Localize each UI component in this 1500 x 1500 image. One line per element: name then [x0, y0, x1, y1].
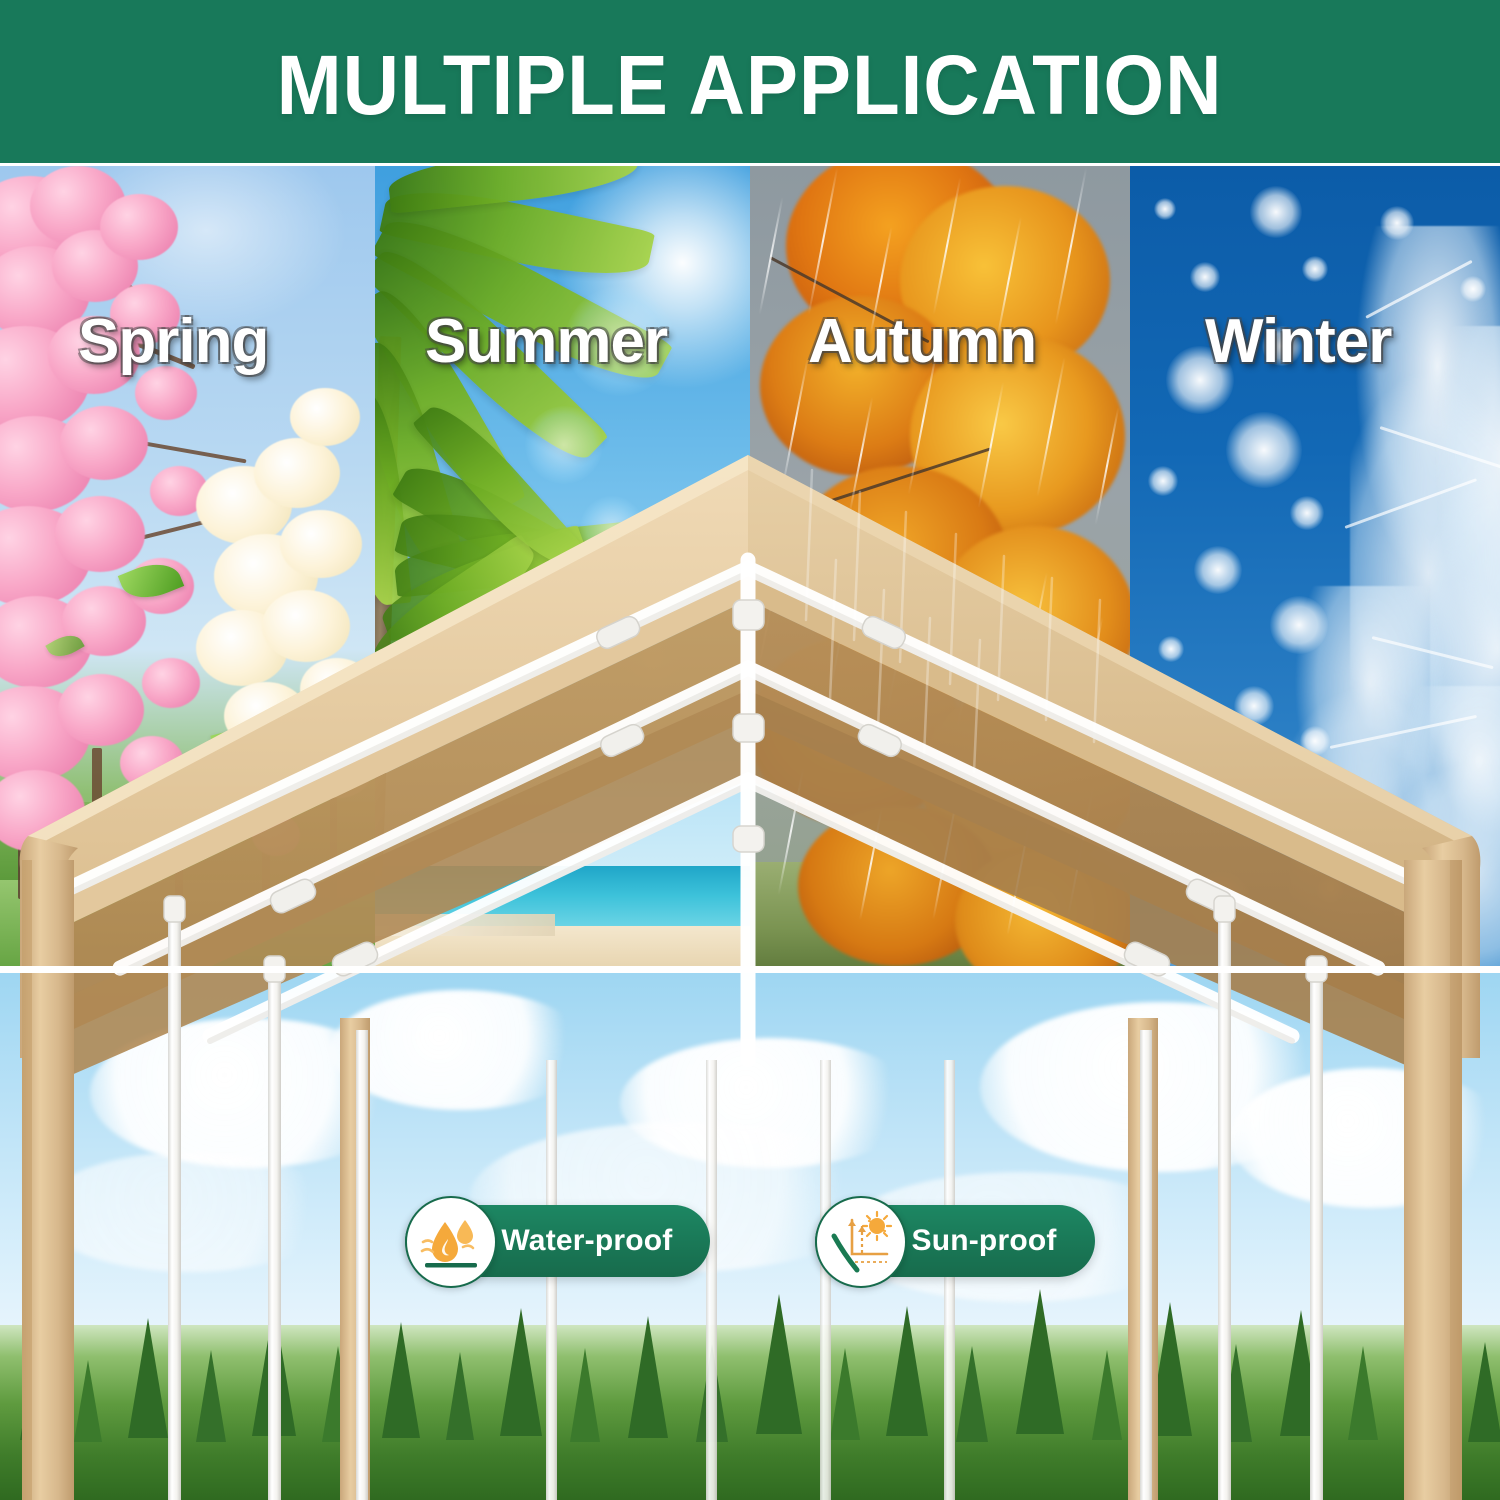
season-panel-summer	[375, 166, 750, 972]
season-panel-autumn	[750, 166, 1130, 972]
season-label-autumn: Autumn	[808, 311, 1036, 373]
scene-divider	[0, 966, 1500, 973]
water-drop-icon	[405, 1196, 497, 1288]
feature-badges: Water-proof	[0, 1196, 1500, 1286]
badge-sun-proof[interactable]: Sun-proof	[815, 1196, 1094, 1286]
badge-water-proof[interactable]: Water-proof	[405, 1196, 710, 1286]
season-panel-winter	[1130, 166, 1500, 972]
season-label-summer: Summer	[425, 311, 667, 373]
marketing-image: MULTIPLE APPLICATION	[0, 0, 1500, 1500]
page-title: MULTIPLE APPLICATION	[277, 37, 1223, 127]
season-strip: Spring Summer Autumn Winter	[0, 166, 1500, 972]
season-panel-spring	[0, 166, 375, 972]
header-banner: MULTIPLE APPLICATION	[0, 0, 1500, 163]
sun-proof-label: Sun-proof	[911, 1224, 1056, 1258]
water-proof-label: Water-proof	[501, 1224, 672, 1258]
season-label-winter: Winter	[1205, 311, 1391, 373]
season-label-spring: Spring	[78, 311, 268, 373]
sun-shield-icon	[815, 1196, 907, 1288]
